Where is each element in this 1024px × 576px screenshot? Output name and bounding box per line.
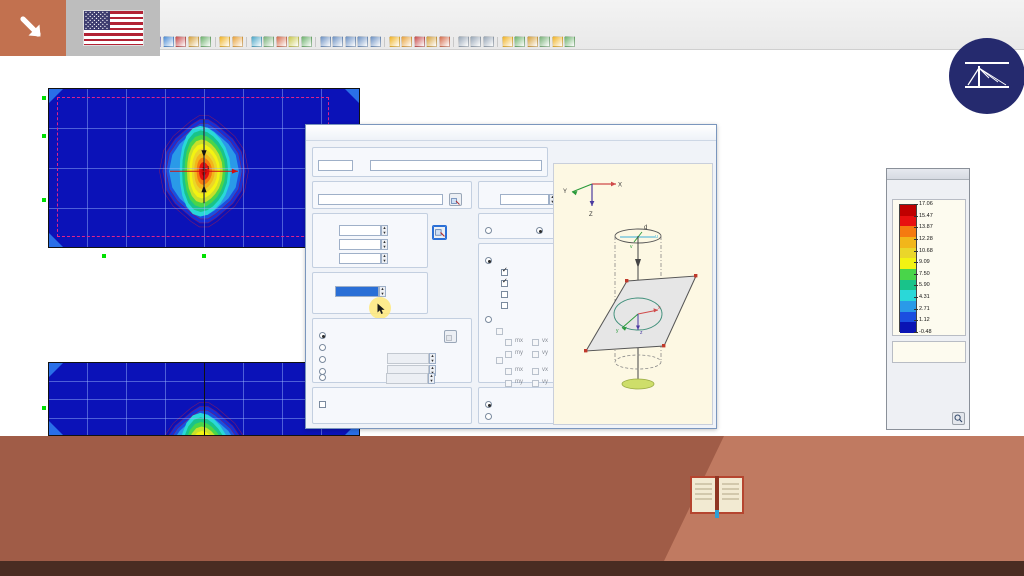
legend-tick: 10.68: [919, 248, 933, 254]
checkbox-my[interactable]: [505, 351, 512, 358]
toolbar-button[interactable]: [251, 36, 262, 47]
alpha-input[interactable]: [500, 194, 549, 205]
svg-text:d: d: [644, 225, 647, 231]
toolbar-button[interactable]: [345, 36, 356, 47]
radio-individuell[interactable]: [485, 316, 492, 323]
legend-color-segment: [900, 216, 916, 227]
legend-tick: 2.71: [919, 306, 930, 312]
minimize-button[interactable]: [930, 1, 960, 15]
magnifier-icon[interactable]: [952, 412, 965, 425]
toolbar-button[interactable]: [188, 36, 199, 47]
toolbar-button[interactable]: [276, 36, 287, 47]
legend-tick: 13.87: [919, 224, 933, 230]
legend-tick: 9.09: [919, 259, 930, 265]
radio-y[interactable]: [319, 356, 326, 363]
legend-box: 17.0615.4713.8712.2810.689.097.505.904.3…: [892, 199, 966, 336]
legend-color-segment: [900, 290, 916, 301]
toolbar-button[interactable]: [370, 36, 381, 47]
toolbar-button[interactable]: [527, 36, 538, 47]
legend-tick: 1.12: [919, 317, 930, 323]
checkbox-group-2[interactable]: [501, 280, 508, 287]
checkbox-group-1[interactable]: [501, 269, 508, 276]
radio-kreis[interactable]: [536, 227, 543, 234]
toolbar-button[interactable]: [401, 36, 412, 47]
dlubal-logo: [949, 38, 1024, 114]
radio-vektor[interactable]: [319, 374, 326, 381]
flaechen-nr-input[interactable]: [318, 194, 443, 205]
flag-canton: [84, 11, 110, 30]
label-my: my: [515, 350, 523, 356]
screenshot-root: 1 17.0615.4713.8712.2810.689.097.505.904…: [0, 0, 1024, 576]
dlubal-frame-icon: [965, 62, 1009, 88]
panel-subtitle-1: [887, 180, 969, 183]
pick-surface-icon[interactable]: [449, 193, 462, 206]
checkbox-vx[interactable]: [532, 368, 539, 375]
checkbox-group-3[interactable]: [501, 291, 508, 298]
legend-tick: 4.31: [919, 294, 930, 300]
toolbar-separator: [497, 37, 498, 47]
svg-text:X: X: [618, 183, 622, 189]
label-vx: vx: [542, 338, 548, 344]
toolbar-separator: [215, 37, 216, 47]
toolbar-button[interactable]: [564, 36, 575, 47]
toolbar-button[interactable]: [483, 36, 494, 47]
checkbox-my[interactable]: [505, 380, 512, 387]
legend-tick: 12.28: [919, 236, 933, 242]
toolbar-row-2[interactable]: [150, 36, 1024, 47]
group-nr-beschreibung: [312, 147, 548, 177]
dialog-close-icon[interactable]: [699, 127, 711, 139]
pick-point-icon[interactable]: [432, 225, 447, 240]
toolbar-button[interactable]: [539, 36, 550, 47]
kb-banner: [0, 436, 1024, 576]
checkbox-u-mit[interactable]: [496, 328, 503, 335]
toolbar-separator: [384, 37, 385, 47]
toolbar-separator: [246, 37, 247, 47]
toolbar-button[interactable]: [232, 36, 243, 47]
new-average-region-dialog[interactable]: ▲▼ ▲▼: [305, 124, 717, 429]
toolbar-button[interactable]: [458, 36, 469, 47]
yc-stepper[interactable]: ▲▼: [381, 239, 388, 250]
label-vx: vx: [542, 367, 548, 373]
support-node[interactable]: [42, 406, 46, 410]
toolbar-button[interactable]: [301, 36, 312, 47]
section-line: [204, 362, 205, 436]
group-flaechen-nr: [312, 181, 472, 209]
open-book-icon: [688, 472, 746, 518]
arrow-block: [0, 0, 66, 56]
radio-jede-flaeche-individuell[interactable]: [485, 413, 492, 420]
support-node[interactable]: [42, 134, 46, 138]
zc-stepper[interactable]: ▲▼: [381, 253, 388, 264]
toolbar-button[interactable]: [219, 36, 230, 47]
toolbar-button[interactable]: [439, 36, 450, 47]
dialog-body: ▲▼ ▲▼: [306, 141, 718, 430]
toolbar-button[interactable]: [389, 36, 400, 47]
toolbar-button[interactable]: [163, 36, 174, 47]
toolbar-button[interactable]: [288, 36, 299, 47]
legend-tick: -0.48: [919, 329, 932, 335]
group-mitte: ▲▼ ▲▼ ▲▼: [312, 213, 428, 268]
arrow-down-right-icon: [20, 16, 46, 42]
pz-stepper[interactable]: ▲▼: [428, 373, 435, 384]
radio-durch-alle-flaechen[interactable]: [485, 401, 492, 408]
zc-input[interactable]: [339, 253, 381, 264]
svg-text:v: v: [630, 244, 633, 250]
svg-text:u: u: [655, 234, 658, 240]
results-panel[interactable]: 17.0615.4713.8712.2810.689.097.505.904.3…: [886, 168, 970, 430]
dialog-title-bar[interactable]: [306, 125, 716, 141]
label-vy: vy: [542, 379, 548, 385]
radio-x[interactable]: [319, 344, 326, 351]
toolbar-separator: [315, 37, 316, 47]
nr-input[interactable]: [318, 160, 353, 171]
toolbar-button[interactable]: [426, 36, 437, 47]
legend-tick: 17.06: [919, 201, 933, 207]
toolbar-button[interactable]: [357, 36, 368, 47]
checkbox-null-setzen[interactable]: [319, 401, 326, 408]
flag-stripe: [84, 44, 143, 46]
toolbar-button[interactable]: [200, 36, 211, 47]
window-controls[interactable]: [930, 1, 1020, 15]
legend-color-bar: [899, 204, 917, 332]
usa-flag-icon: [83, 10, 144, 46]
px-stepper[interactable]: ▲▼: [429, 353, 436, 364]
maximize-button[interactable]: [960, 1, 990, 15]
support-node[interactable]: [202, 254, 206, 258]
xc-stepper[interactable]: ▲▼: [381, 225, 388, 236]
checkbox-vy[interactable]: [532, 351, 539, 358]
label-vy: vy: [542, 350, 548, 356]
svg-text:Z: Z: [589, 212, 593, 218]
beschreibung-input[interactable]: [370, 160, 542, 171]
checkbox-v-mit[interactable]: [496, 357, 503, 364]
yc-input[interactable]: [339, 239, 381, 250]
d-stepper[interactable]: ▲▼: [379, 286, 386, 297]
legend-color-segment: [900, 258, 916, 269]
legend-tick: 15.47: [919, 213, 933, 219]
checkbox-vx[interactable]: [532, 339, 539, 346]
toolbar-button[interactable]: [470, 36, 481, 47]
support-node[interactable]: [42, 198, 46, 202]
mouse-cursor-icon: [377, 303, 386, 315]
rfem-application-window: 1 17.0615.4713.8712.2810.689.097.505.904…: [0, 0, 1024, 436]
close-button[interactable]: [990, 1, 1020, 15]
panel-minmax: [892, 341, 966, 363]
group-einstellungen: [312, 387, 472, 424]
toolbar-button[interactable]: [263, 36, 274, 47]
pz-input[interactable]: [386, 373, 428, 384]
preview-svg: X Y Z d u v: [554, 164, 713, 425]
label-my: my: [515, 379, 523, 385]
toolbar-button[interactable]: [320, 36, 331, 47]
pick-direction-icon[interactable]: [444, 330, 457, 343]
checkbox-mx[interactable]: [505, 368, 512, 375]
checkbox-mx[interactable]: [505, 339, 512, 346]
toolbar-button[interactable]: [332, 36, 343, 47]
toolbar-button[interactable]: [502, 36, 513, 47]
toolbar-button[interactable]: [552, 36, 563, 47]
radio-gruppiert[interactable]: [485, 257, 492, 264]
checkbox-vy[interactable]: [532, 380, 539, 387]
radio-rechteck[interactable]: [485, 227, 492, 234]
legend-color-segment: [900, 301, 916, 312]
legend-tick: 7.50: [919, 271, 930, 277]
toolbar-button[interactable]: [514, 36, 525, 47]
toolbar-button[interactable]: [175, 36, 186, 47]
radio-senkrecht[interactable]: [319, 332, 326, 339]
px-input[interactable]: [387, 353, 429, 364]
legend-tick: 5.90: [919, 282, 930, 288]
legend-tick-labels: 17.0615.4713.8712.2810.689.097.505.904.3…: [919, 200, 965, 337]
label-mx: mx: [515, 338, 523, 344]
label-mx: mx: [515, 367, 523, 373]
legend-color-segment: [900, 248, 916, 259]
svg-text:Y: Y: [563, 189, 567, 195]
support-node[interactable]: [42, 96, 46, 100]
support-node[interactable]: [102, 254, 106, 258]
toolbar-separator: [453, 37, 454, 47]
xc-input[interactable]: [339, 225, 381, 236]
group-abmessung: ▲▼: [312, 272, 428, 314]
svg-text:1: 1: [207, 165, 210, 170]
panel-title-bar: [887, 169, 969, 180]
toolbar-button[interactable]: [414, 36, 425, 47]
checkbox-group-4[interactable]: [501, 302, 508, 309]
banner-footer-bar: [0, 561, 1024, 576]
d-input[interactable]: [335, 286, 379, 297]
legend-color-segment: [900, 205, 916, 216]
dialog-3d-preview[interactable]: X Y Z d u v: [553, 163, 713, 425]
